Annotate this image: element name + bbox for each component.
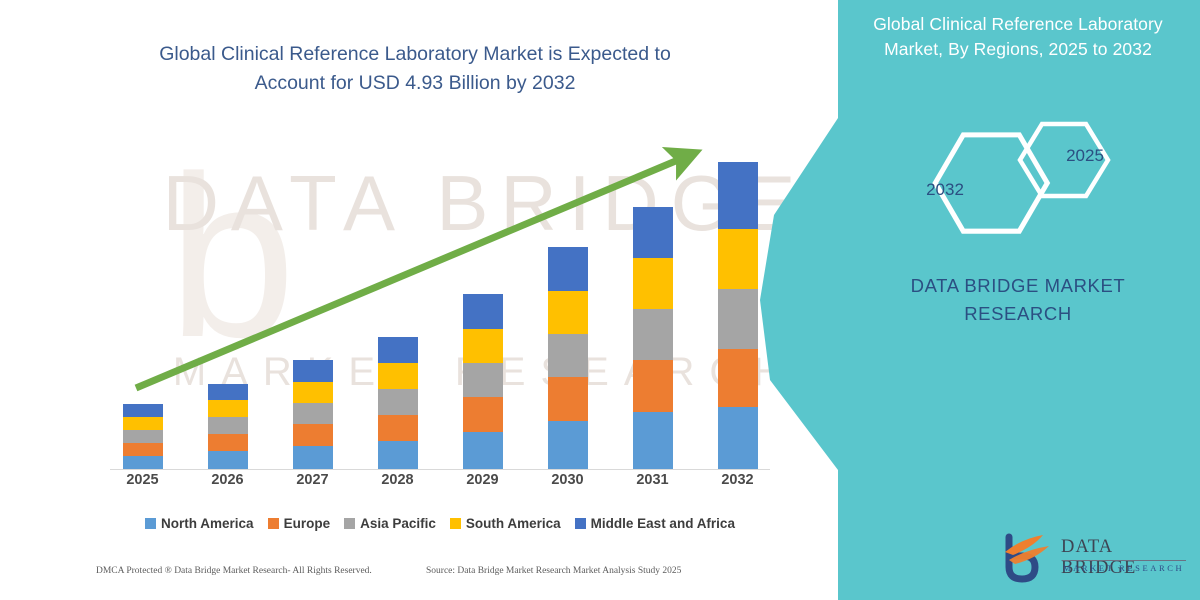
stacked-bar: [378, 337, 418, 469]
bar-segment: [208, 384, 248, 400]
panel-brand-line-1: DATA BRIDGE MARKET: [842, 272, 1194, 300]
x-axis-tick: 2026: [185, 472, 270, 496]
chart-baseline: [110, 469, 770, 470]
stacked-bar: [123, 404, 163, 469]
stacked-bar: [463, 294, 503, 469]
bar-segment: [718, 349, 758, 407]
bar-segment: [378, 337, 418, 363]
bar-segment: [123, 430, 163, 443]
bar-segment: [548, 377, 588, 421]
x-axis-tick: 2032: [695, 472, 780, 496]
legend-label: Europe: [284, 516, 331, 531]
bar-segment: [718, 407, 758, 469]
bar-segment: [463, 432, 503, 469]
page-title: Global Clinical Reference Laboratory Mar…: [130, 40, 700, 98]
bar-segment: [293, 446, 333, 469]
bar-segment: [293, 360, 333, 382]
stacked-bar: [633, 207, 673, 469]
stacked-bar-chart: [100, 130, 780, 470]
bar-segment: [548, 334, 588, 377]
bar-segment: [548, 421, 588, 469]
footer-copyright: DMCA Protected ® Data Bridge Market Rese…: [96, 566, 372, 576]
bar-segment: [378, 389, 418, 415]
legend-label: North America: [161, 516, 254, 531]
x-axis-labels: 20252026202720282029203020312032: [100, 472, 780, 496]
bar-segment: [718, 162, 758, 229]
chart-legend: North AmericaEuropeAsia PacificSouth Ame…: [100, 512, 780, 534]
stacked-bar: [208, 384, 248, 469]
bar-segment: [633, 207, 673, 258]
legend-label: Asia Pacific: [360, 516, 436, 531]
bar-segment: [633, 412, 673, 469]
footer-source: Source: Data Bridge Market Research Mark…: [426, 566, 681, 576]
legend-item[interactable]: Middle East and Africa: [575, 516, 735, 531]
x-axis-tick: 2028: [355, 472, 440, 496]
bar-segment: [293, 382, 333, 403]
bar-segment: [293, 424, 333, 446]
x-axis-tick: 2025: [100, 472, 185, 496]
bar-segment: [548, 291, 588, 334]
legend-item[interactable]: South America: [450, 516, 561, 531]
logo-b-mark-icon: [1003, 533, 1057, 583]
panel-title: Global Clinical Reference Laboratory Mar…: [842, 12, 1194, 62]
bar-segment: [463, 294, 503, 329]
bar-segment: [463, 329, 503, 363]
legend-swatch: [344, 518, 355, 529]
bar-segment: [718, 229, 758, 289]
bar-segment: [208, 434, 248, 451]
bar-segment: [293, 403, 333, 424]
legend-swatch: [450, 518, 461, 529]
bar-segment: [718, 289, 758, 349]
logo-tagline: MARKET RESEARCH: [1063, 563, 1184, 573]
bar-segment: [463, 363, 503, 397]
legend-item[interactable]: Asia Pacific: [344, 516, 436, 531]
logo-divider: [1062, 560, 1186, 561]
stacked-bar: [293, 360, 333, 469]
panel-brand-line-2: RESEARCH: [842, 300, 1194, 328]
bar-segment: [123, 404, 163, 417]
infographic-root: b DATA BRIDGE MARKET RESEARCH Global Cli…: [0, 0, 1200, 600]
bar-segment: [123, 443, 163, 456]
bar-segment: [378, 441, 418, 469]
bar-segment: [123, 456, 163, 469]
bar-column: [355, 137, 440, 469]
hexagon-shapes: [838, 118, 1200, 258]
bar-segment: [463, 397, 503, 432]
bar-segment: [548, 247, 588, 291]
bar-segment: [208, 400, 248, 417]
bar-segment: [378, 363, 418, 389]
bar-segment: [208, 451, 248, 469]
bar-segment: [633, 258, 673, 309]
bar-column: [440, 137, 525, 469]
legend-swatch: [145, 518, 156, 529]
panel-brand: DATA BRIDGE MARKET RESEARCH: [842, 272, 1194, 328]
x-axis-tick: 2027: [270, 472, 355, 496]
hexagon-outline-large: [935, 135, 1047, 231]
legend-swatch: [575, 518, 586, 529]
data-bridge-logo: DATA BRIDGE MARKET RESEARCH: [1003, 533, 1188, 585]
right-panel: Global Clinical Reference Laboratory Mar…: [760, 0, 1200, 600]
x-axis-tick: 2030: [525, 472, 610, 496]
x-axis-tick: 2029: [440, 472, 525, 496]
legend-item[interactable]: North America: [145, 516, 254, 531]
bar-segment: [123, 417, 163, 430]
bar-segment: [633, 309, 673, 360]
bar-column: [270, 137, 355, 469]
chart-bars-container: [100, 137, 780, 469]
x-axis-tick: 2031: [610, 472, 695, 496]
legend-item[interactable]: Europe: [268, 516, 331, 531]
legend-label: Middle East and Africa: [591, 516, 735, 531]
bar-column: [100, 137, 185, 469]
footer: DMCA Protected ® Data Bridge Market Rese…: [96, 566, 776, 586]
bar-column: [185, 137, 270, 469]
bar-segment: [208, 417, 248, 434]
legend-swatch: [268, 518, 279, 529]
bar-segment: [378, 415, 418, 441]
stacked-bar: [548, 247, 588, 469]
bar-column: [525, 137, 610, 469]
bar-column: [610, 137, 695, 469]
stacked-bar: [718, 162, 758, 469]
bar-segment: [633, 360, 673, 412]
hexagon-group: 2032 2025: [838, 118, 1200, 258]
legend-label: South America: [466, 516, 561, 531]
